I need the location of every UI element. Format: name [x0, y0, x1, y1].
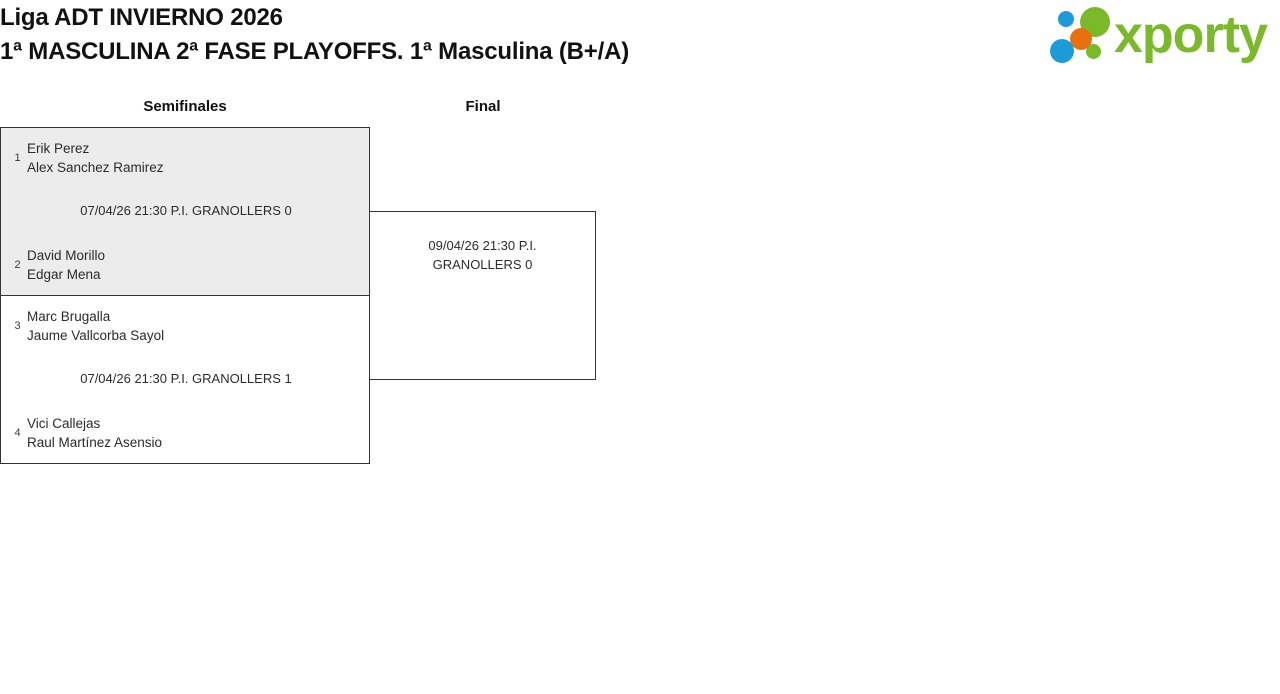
seed-number: 4 — [8, 427, 27, 440]
match-team-bottom[interactable]: 4 Vici Callejas Raul Martínez Asensio — [8, 414, 364, 452]
player-name: Marc Brugalla — [27, 309, 110, 324]
match-team-top[interactable]: 1 Erik Perez Alex Sanchez Ramirez — [8, 139, 364, 177]
team-players: David Morillo Edgar Mena — [27, 246, 364, 284]
player-name: Erik Perez — [27, 141, 89, 156]
seed-number: 1 — [8, 152, 27, 165]
match-box-semifinal-2[interactable]: 3 Marc Brugalla Jaume Vallcorba Sayol 07… — [0, 295, 370, 464]
match-info: 07/04/26 21:30 P.I. GRANOLLERS 0 — [41, 202, 331, 219]
match-info-line-2: GRANOLLERS 0 — [433, 257, 533, 272]
player-name: David Morillo — [27, 248, 105, 263]
match-box-final[interactable]: 09/04/26 21:30 P.I. GRANOLLERS 0 — [369, 211, 596, 380]
player-name: Alex Sanchez Ramirez — [27, 160, 164, 175]
match-box-semifinal-1[interactable]: 1 Erik Perez Alex Sanchez Ramirez 07/04/… — [0, 127, 370, 296]
player-name: Vici Callejas — [27, 416, 100, 431]
match-info-line-1: 09/04/26 21:30 P.I. — [428, 238, 536, 253]
team-players: Vici Callejas Raul Martínez Asensio — [27, 414, 364, 452]
seed-number: 2 — [8, 259, 27, 272]
player-name: Edgar Mena — [27, 267, 101, 282]
player-name: Raul Martínez Asensio — [27, 435, 162, 450]
tournament-bracket: 1 Erik Perez Alex Sanchez Ramirez 07/04/… — [0, 0, 1280, 694]
team-players: Erik Perez Alex Sanchez Ramirez — [27, 139, 364, 177]
match-team-top[interactable]: 3 Marc Brugalla Jaume Vallcorba Sayol — [8, 307, 364, 345]
match-info: 09/04/26 21:30 P.I. GRANOLLERS 0 — [384, 236, 581, 274]
seed-number: 3 — [8, 320, 27, 333]
player-name: Jaume Vallcorba Sayol — [27, 328, 164, 343]
match-info: 07/04/26 21:30 P.I. GRANOLLERS 1 — [41, 370, 331, 387]
match-team-bottom[interactable]: 2 David Morillo Edgar Mena — [8, 246, 364, 284]
team-players: Marc Brugalla Jaume Vallcorba Sayol — [27, 307, 364, 345]
